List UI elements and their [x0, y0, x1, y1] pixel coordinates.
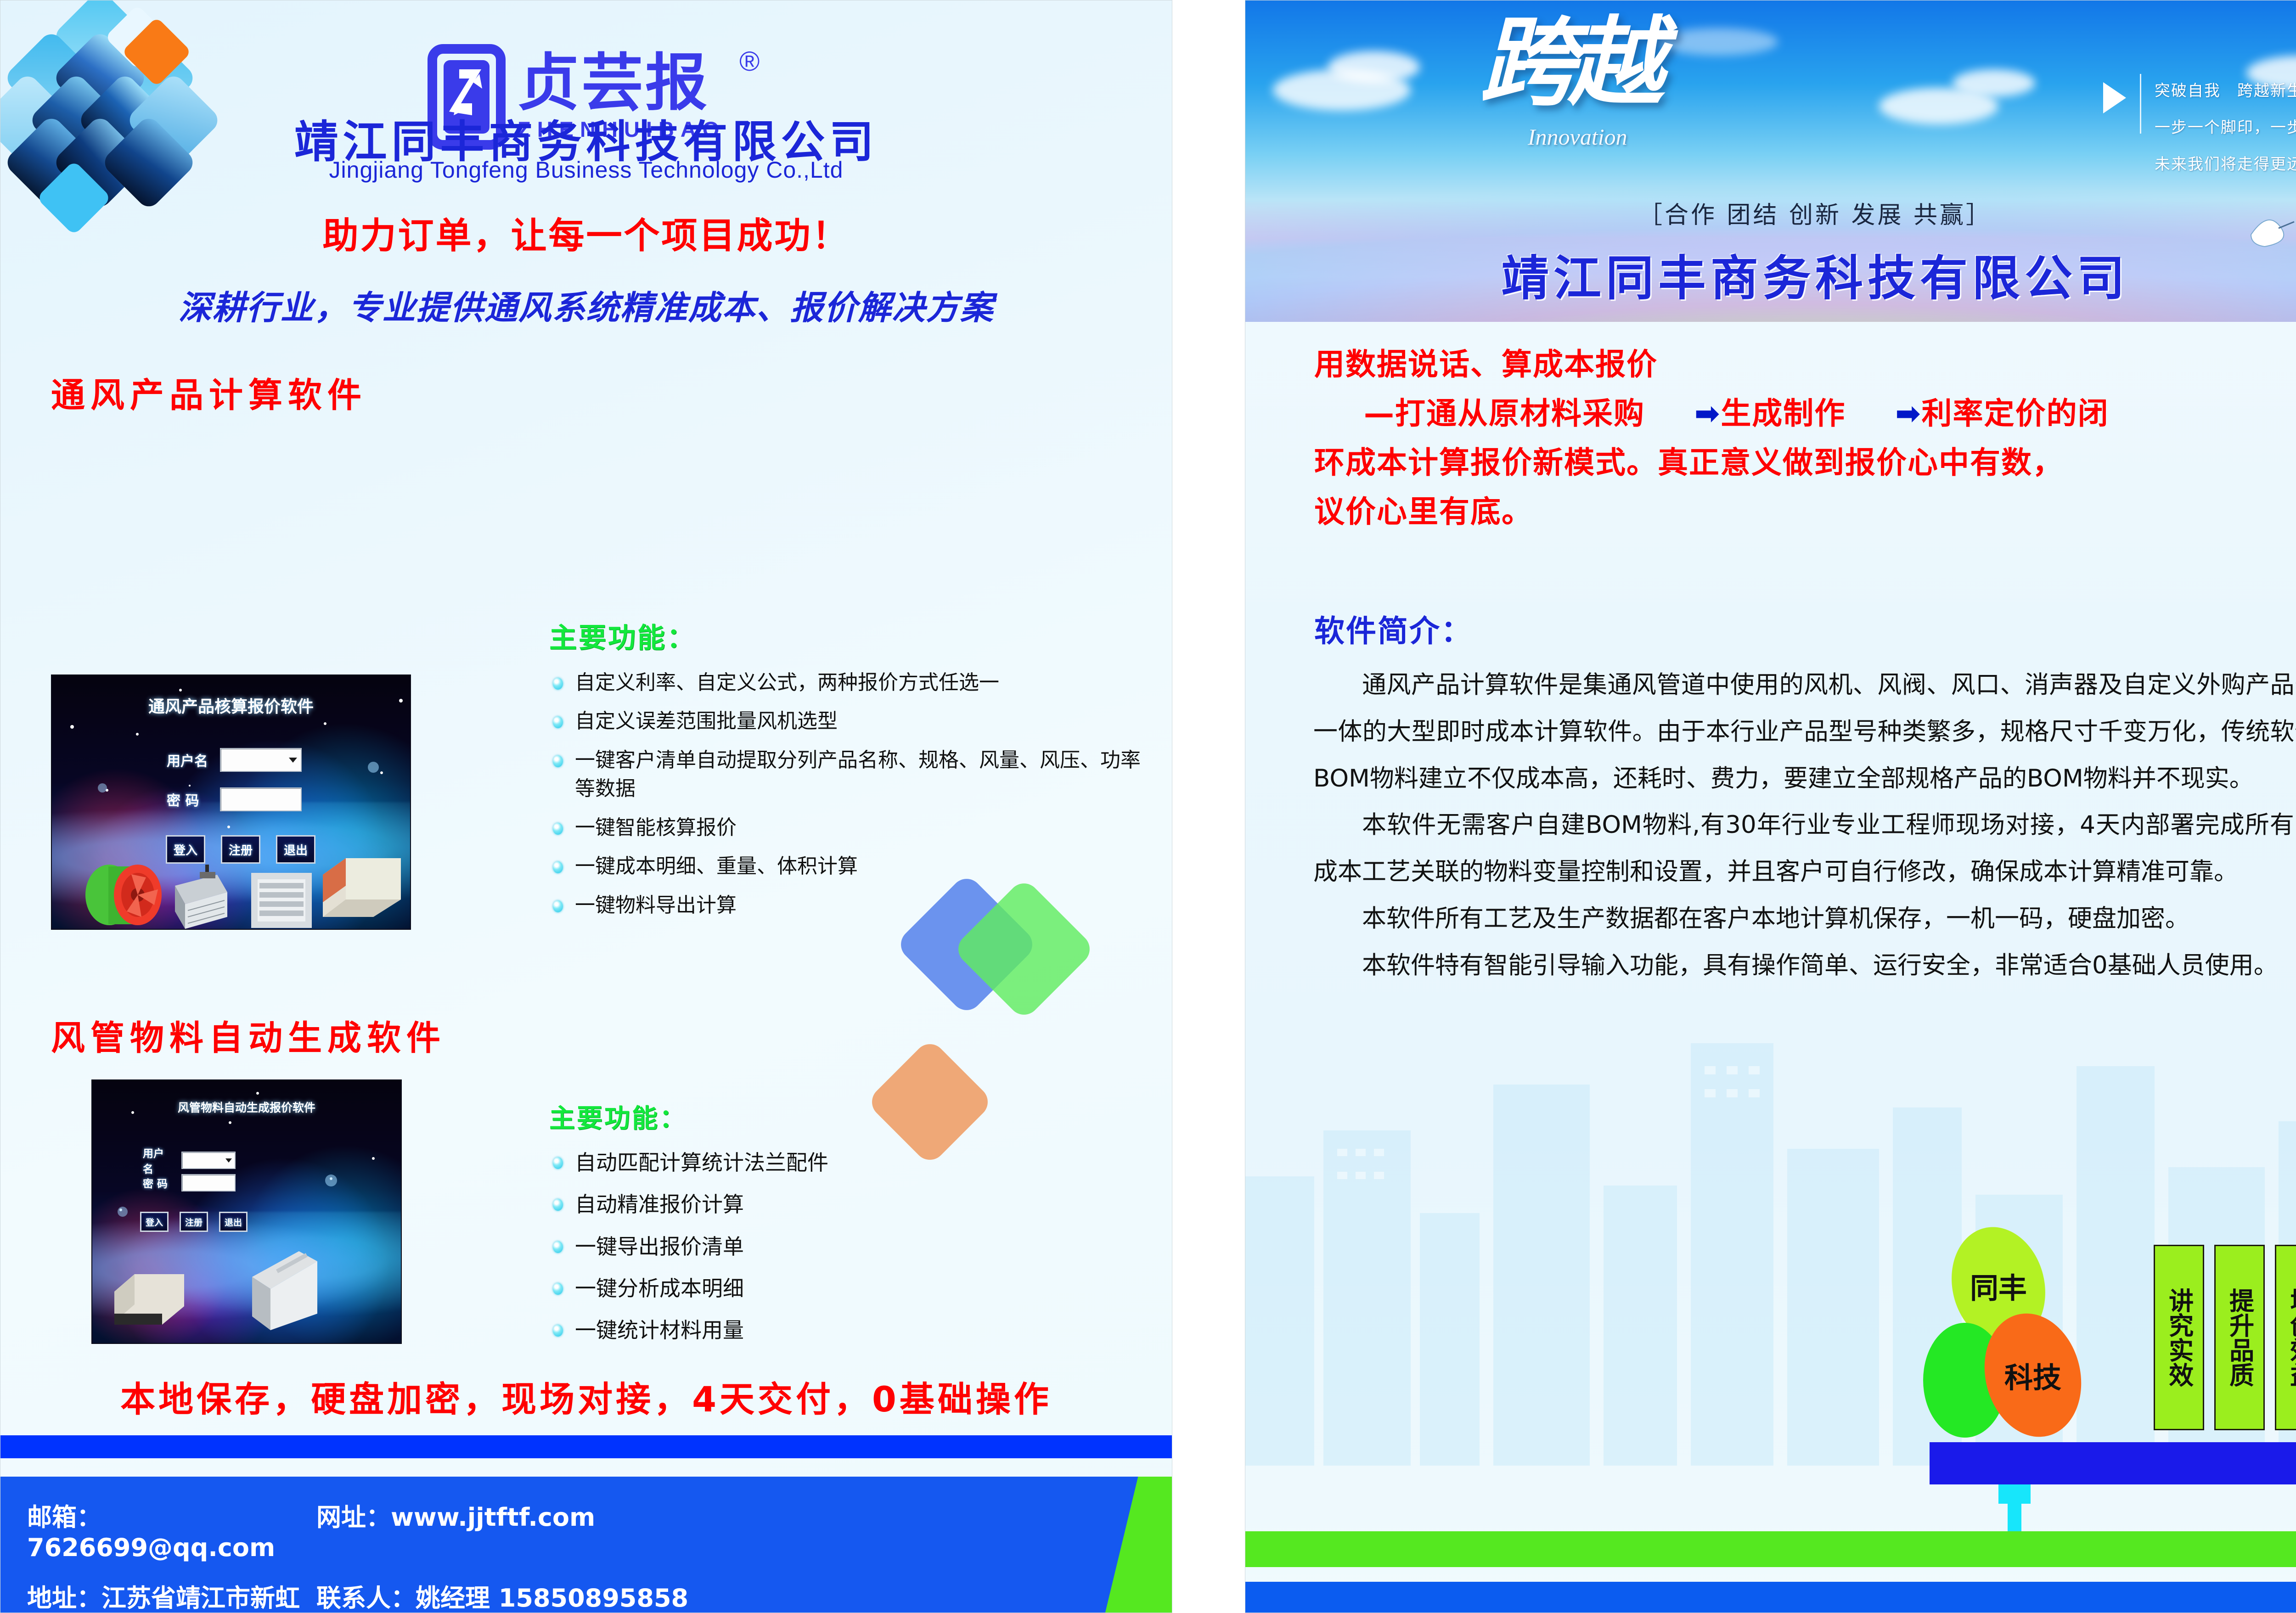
- arrow-right-icon: ➡: [1846, 389, 1921, 438]
- city-skyline-watermark: [1245, 892, 2296, 1466]
- vertical-banner: 讲究实效: [2154, 1245, 2204, 1430]
- intro-heading: 软件简介：: [1314, 607, 1473, 651]
- value-line-2: —打通从原材料采购➡生成制作➡利率定价的闭: [1314, 389, 2296, 438]
- contact-footer: 邮箱：7626699@qq.com 网址：www.jjtftf.com 地址：江…: [0, 1477, 1172, 1613]
- duct-panel-photo: [244, 1245, 326, 1332]
- exit-button-1[interactable]: 退出: [276, 835, 315, 864]
- screenshot-1-title: 通风产品核算报价软件: [52, 693, 410, 717]
- email-value[interactable]: 7626699@qq.com: [27, 1533, 275, 1562]
- chevron-down-icon[interactable]: [289, 758, 297, 763]
- feature-head-1: 主要功能：: [549, 616, 1146, 656]
- footer-website: 网址：www.jjtftf.com: [316, 1497, 1083, 1562]
- intro-paragraph: 本软件无需客户自建BOM物料,有30年行业专业工程师现场对接，4天内部署完成所有…: [1313, 802, 2296, 895]
- divider-blue-bar: [0, 1435, 1172, 1458]
- feature-item: 一键分析成本明细: [549, 1274, 1146, 1304]
- hero-tagline: 未来我们将走得更远！: [2155, 146, 2296, 183]
- register-button-2[interactable]: 注册: [180, 1212, 208, 1232]
- seagull-icon: [2246, 202, 2296, 258]
- blue-bench-bar: [1930, 1442, 2296, 1484]
- feature-item: 自动匹配计算统计法兰配件: [549, 1148, 1146, 1178]
- username-input-2[interactable]: [181, 1152, 236, 1169]
- feature-item: 一键成本明细、重量、体积计算: [549, 852, 1146, 881]
- ellipse-tongfeng-label: 同丰: [1970, 1265, 2027, 1306]
- username-input-1[interactable]: [220, 748, 302, 772]
- brochure-spread: 贞芸报 ZHENHUIBAO ® 靖江同丰商务科技有限公司 Jingjiang …: [0, 0, 2296, 1613]
- feature-item: 自动精准报价计算: [549, 1190, 1146, 1220]
- hero-divider: [2140, 74, 2141, 134]
- exit-button-2[interactable]: 退出: [219, 1212, 248, 1232]
- registered-mark-icon: ®: [739, 45, 760, 77]
- vertical-banner-label: 提升品质: [2226, 1288, 2252, 1387]
- bench-leg-left-stem: [2008, 1504, 2021, 1531]
- damper-photo: [167, 853, 231, 929]
- value-line-3: 环成本计算报价新模式。真正意义做到报价心中有数，: [1314, 438, 2296, 488]
- hero-values: ［合作 团结 创新 发展 共赢］: [1245, 196, 2296, 230]
- primary-slogan: 助力订单，让每一个项目成功！: [0, 207, 1172, 259]
- hero-tagline: 一步一个脚印，一步一个跨越。: [2155, 110, 2296, 146]
- bottom-slogan: 本地保存，硬盘加密，现场对接，4天交付，0基础操作: [0, 1371, 1172, 1422]
- feature-item: 一键统计材料用量: [549, 1315, 1146, 1345]
- ellipse-keji-label: 科技: [2004, 1354, 2061, 1396]
- feature-item: 一键智能核算报价: [549, 814, 1146, 842]
- duct-silencer-photo: [318, 854, 405, 922]
- secondary-slogan: 深耕行业，专业提供通风系统精准成本、报价解决方案: [0, 281, 1172, 329]
- hero-tagline: 突破自我 跨越新生: [2155, 73, 2296, 110]
- password-label-1: 密 码: [167, 789, 208, 809]
- vertical-banner: 提升品质: [2214, 1245, 2265, 1430]
- bench-leg-left: [1998, 1484, 2031, 1504]
- feature-list-2: 主要功能： 自动匹配计算统计法兰配件 自动精准报价计算 一键导出报价清单 一键分…: [549, 1098, 1146, 1358]
- contact-value: 姚经理 15850895858: [416, 1584, 688, 1613]
- vertical-banner-label: 增创效益: [2287, 1288, 2296, 1387]
- screenshot-2-title: 风管物料自动生成报价软件: [92, 1099, 401, 1115]
- email-label: 邮箱：: [27, 1503, 101, 1532]
- website-value[interactable]: www.jjtftf.com: [391, 1503, 595, 1532]
- green-band: [1245, 1531, 2296, 1567]
- value-proposition-block: 用数据说话、算成本报价 —打通从原材料采购➡生成制作➡利率定价的闭 环成本计算报…: [1314, 340, 2296, 537]
- vertical-banner: 增创效益: [2275, 1245, 2296, 1430]
- feature-item: 自定义利率、自定义公式，两种报价方式任选一: [549, 669, 1146, 697]
- password-input-2[interactable]: [181, 1174, 236, 1191]
- value-line-2c: 利率定价的闭: [1922, 396, 2109, 431]
- software-screenshot-2: 风管物料自动生成报价软件 用户名 密 码 登入 注册 退出: [92, 1080, 401, 1343]
- right-page: 跨越 Innovation 突破自我 跨越新生 一步一个脚印，一步一个跨越。 未…: [1245, 0, 2296, 1613]
- play-triangle-icon: [2103, 82, 2126, 113]
- value-line-2b: 生成制作: [1721, 396, 1846, 431]
- username-label-1: 用户名: [167, 750, 208, 770]
- hero-company-name: 靖江同丰商务科技有限公司: [1245, 239, 2296, 309]
- website-label: 网址：: [316, 1503, 391, 1532]
- value-line-4: 议价心里有底。: [1314, 488, 2296, 537]
- chevron-down-icon[interactable]: [225, 1158, 232, 1163]
- grille-photo: [249, 871, 314, 929]
- footer-email: 邮箱：7626699@qq.com: [27, 1497, 307, 1562]
- left-page: 贞芸报 ZHENHUIBAO ® 靖江同丰商务科技有限公司 Jingjiang …: [0, 0, 1172, 1613]
- duct-elbow-photo: [111, 1268, 193, 1337]
- section-title-2: 风管物料自动生成软件: [51, 1011, 446, 1060]
- username-label-2: 用户名: [143, 1145, 173, 1176]
- value-line-1: 用数据说话、算成本报价: [1314, 340, 2296, 389]
- feature-head-2: 主要功能：: [549, 1098, 1146, 1135]
- feature-list-1: 主要功能： 自定义利率、自定义公式，两种报价方式任选一 自定义误差范围批量风机选…: [549, 616, 1146, 930]
- hero-headline-en: Innovation: [1528, 124, 1627, 150]
- intro-paragraph: 通风产品计算软件是集通风管道中使用的风机、风阀、风口、消声器及自定义外购产品于一…: [1313, 662, 2296, 802]
- login-button-2[interactable]: 登入: [140, 1212, 169, 1232]
- value-line-2a: —打通从原材料采购: [1364, 396, 1645, 431]
- address-label: 地址：: [27, 1584, 101, 1613]
- footer-address: 地址：江苏省靖江市新虹桥嘉园2-1: [27, 1578, 307, 1613]
- contact-label: 联系人：: [316, 1584, 416, 1613]
- password-input-1[interactable]: [220, 787, 302, 811]
- software-screenshot-1: 通风产品核算报价软件 用户名 密 码 登入 注册 退出: [52, 675, 410, 929]
- blue-footer-band: [1245, 1582, 2296, 1613]
- password-label-2: 密 码: [143, 1175, 173, 1191]
- vertical-banner-label: 讲究实效: [2166, 1288, 2192, 1387]
- hero-taglines: 突破自我 跨越新生 一步一个脚印，一步一个跨越。 未来我们将走得更远！: [2155, 73, 2296, 183]
- hero-banner: 跨越 Innovation 突破自我 跨越新生 一步一个脚印，一步一个跨越。 未…: [1245, 0, 2296, 322]
- footer-green-wedge: [1090, 1477, 1172, 1613]
- arrow-right-icon: ➡: [1645, 389, 1721, 438]
- section-title-1: 通风产品计算软件: [51, 368, 367, 417]
- feature-item: 一键导出报价清单: [549, 1232, 1146, 1262]
- logo-cn-text: 贞芸报: [518, 52, 726, 114]
- footer-contact: 联系人：姚经理 15850895858: [316, 1578, 1083, 1613]
- feature-item: 自定义误差范围批量风机选型: [549, 707, 1146, 736]
- axial-fan-photo: [77, 849, 174, 929]
- feature-item: 一键客户清单自动提取分列产品名称、规格、风量、风压、功率等数据: [549, 746, 1146, 804]
- hero-headline-cn: 跨越: [1480, 14, 1656, 111]
- company-name-en: Jingjiang Tongfeng Business Technology C…: [0, 157, 1172, 183]
